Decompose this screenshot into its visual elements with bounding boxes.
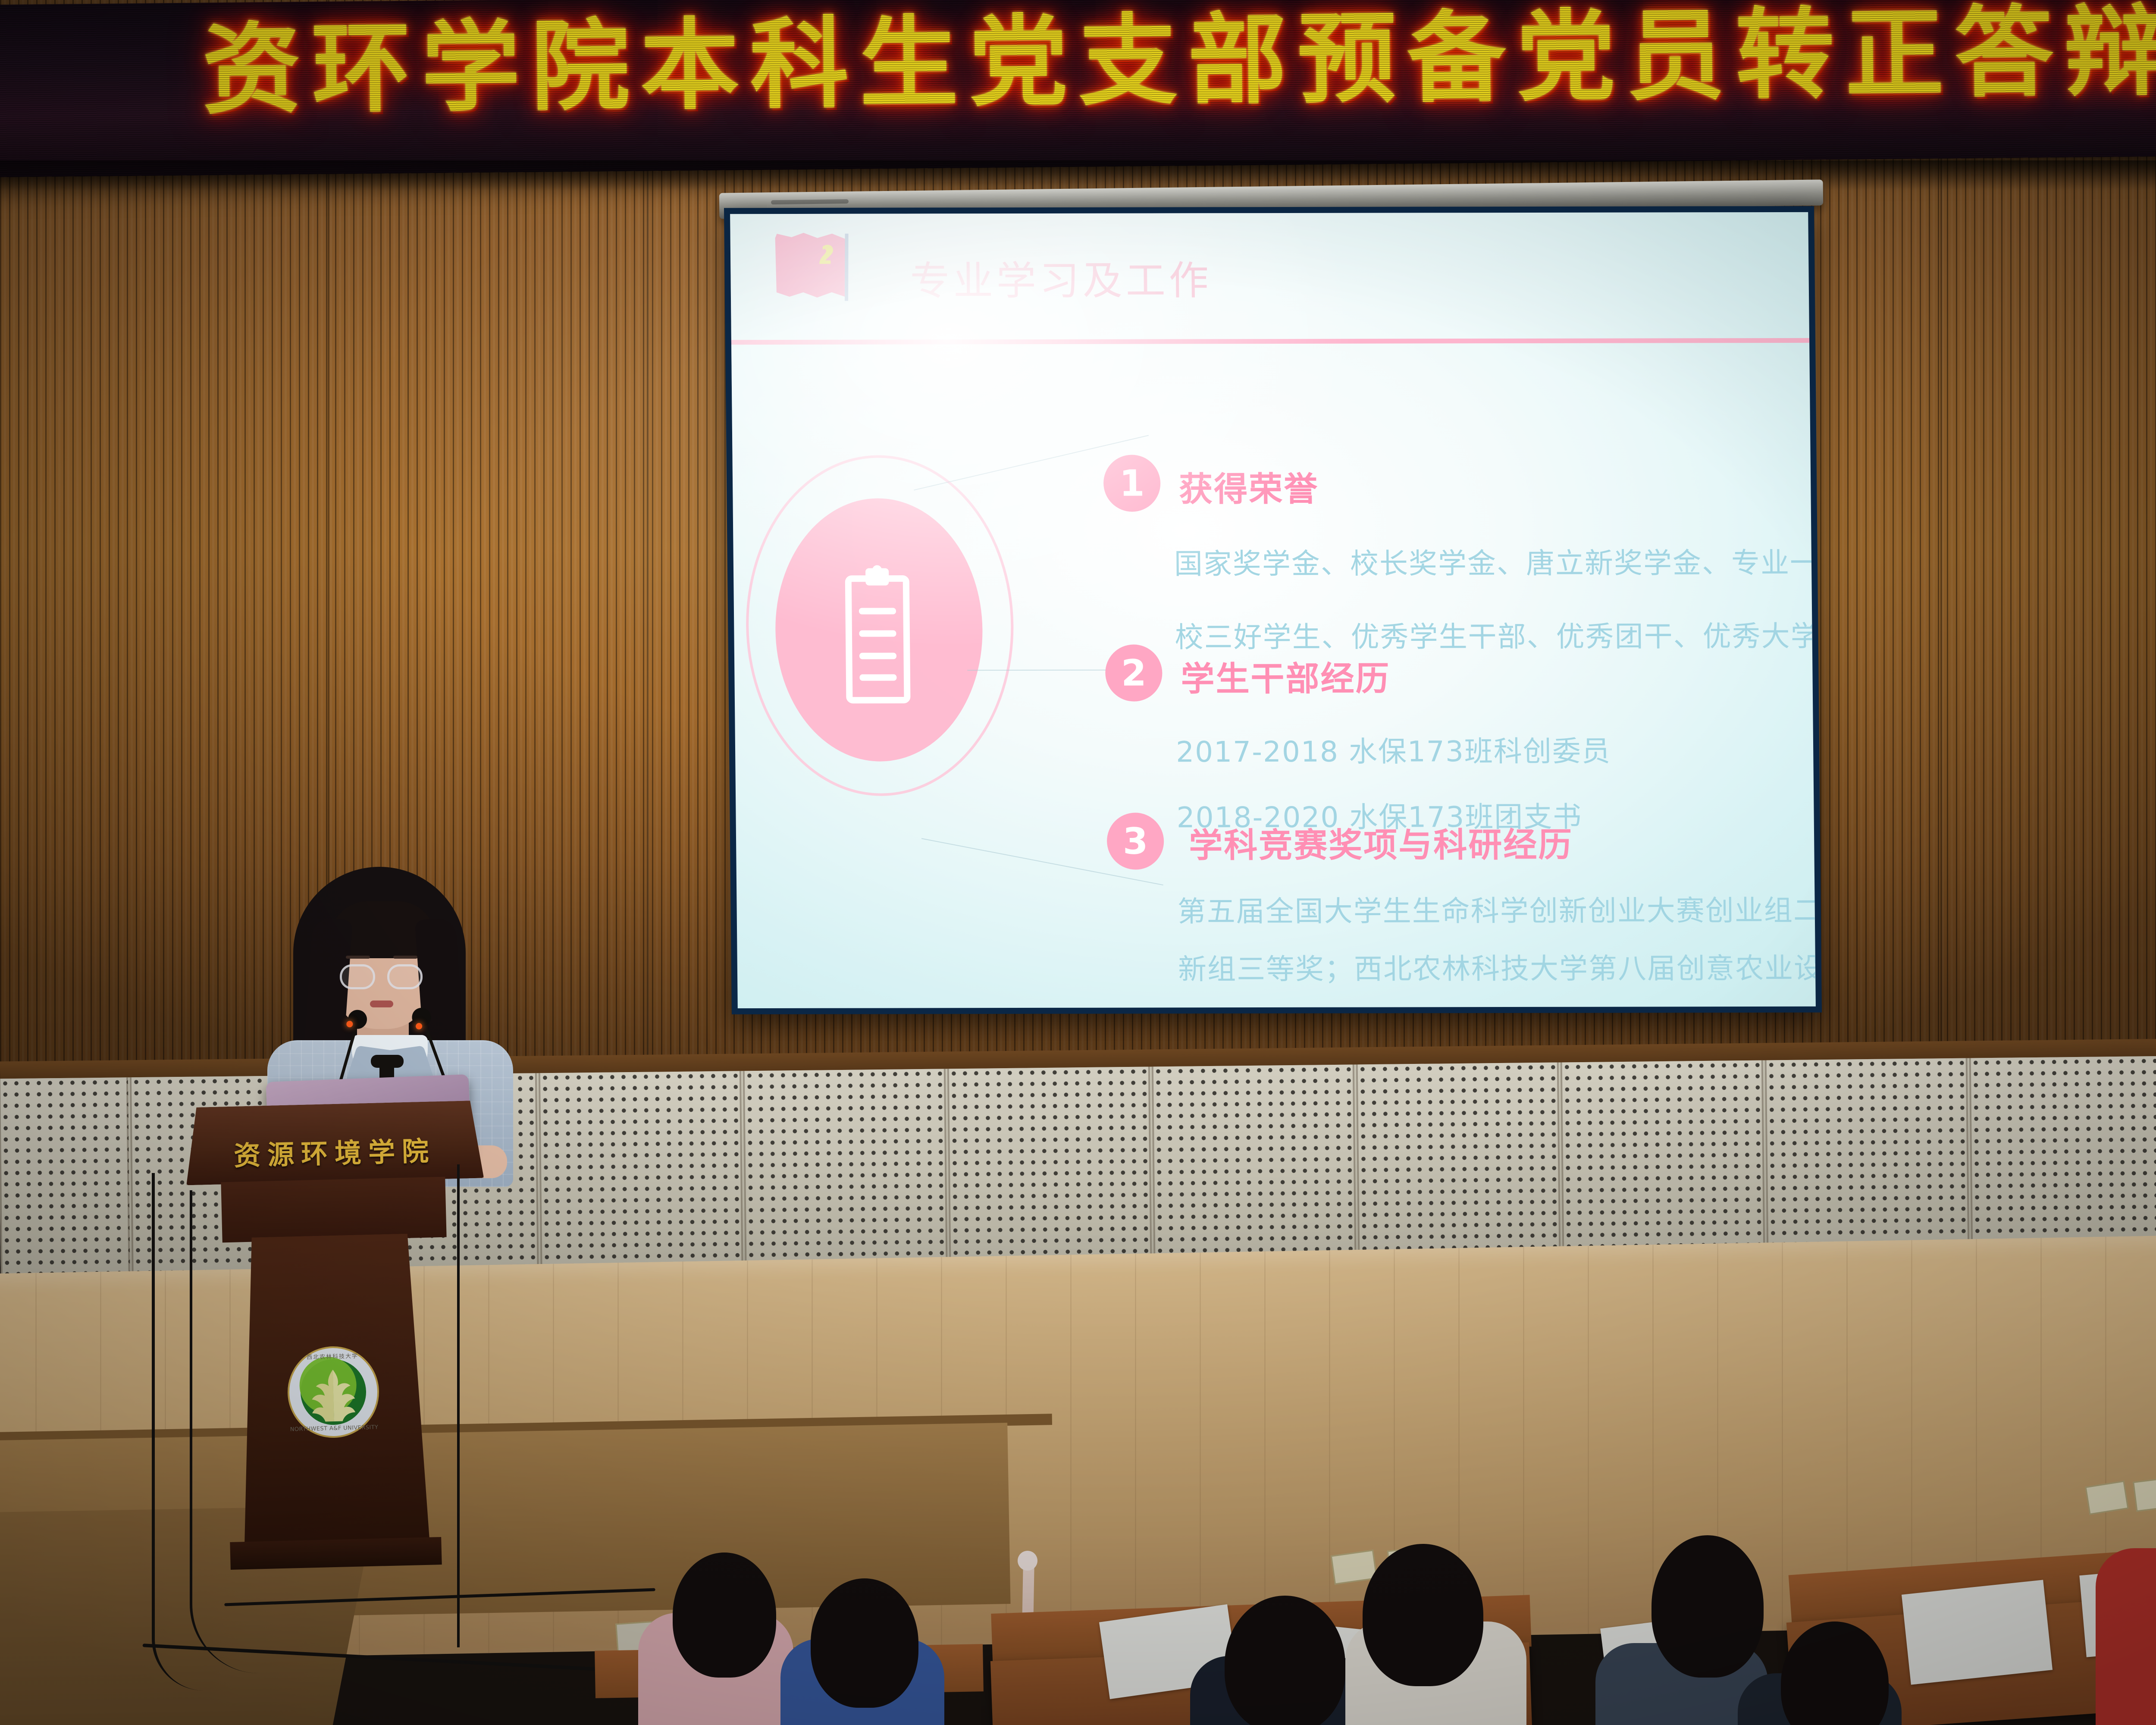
section-line: 国家奖学金、校长奖学金、唐立新奖学金、专业一等奖学金、: [1174, 539, 1815, 582]
section-line: 等奖；两项校级科创良好结题。: [1178, 1003, 1589, 1008]
svg-text:西北农林科技大学: 西北农林科技大学: [307, 1353, 358, 1361]
screen-housing-slot: [771, 199, 849, 204]
presenter-mouth: [370, 1000, 393, 1007]
glasses-icon: [340, 964, 375, 989]
section-number: 3: [1106, 812, 1164, 869]
slide-title: 专业学习及工作: [910, 248, 1212, 306]
party-flag-icon: [772, 232, 881, 325]
section-heading: 获得荣誉: [1179, 462, 1319, 511]
section-line: 第五届全国大学生生命科学创新创业大赛创业组二等奖、创: [1177, 887, 1816, 930]
projection-screen: 专业学习及工作 1 获得荣誉 国家奖学金、校长奖学金: [724, 206, 1822, 1014]
university-emblem: NORTHWEST A&F UNIVERSITY 西北农林科技大学: [285, 1344, 381, 1440]
audience-person: [2096, 1548, 2156, 1725]
presenter-eyebrow: [346, 956, 370, 959]
section-line: 校三好学生、优秀学生干部、优秀团干、优秀大学生: [1175, 613, 1816, 656]
led-banner: 资环学院本科生党支部预备党员转正答辩大会: [0, 0, 2156, 177]
microphone-head-icon: [1018, 1551, 1037, 1571]
audience-person-head: [811, 1578, 918, 1708]
banner-shadow: [0, 160, 2156, 191]
section-number: 2: [1105, 644, 1163, 701]
audience-person-head: [1225, 1596, 1345, 1725]
name-placard: [2133, 1477, 2156, 1512]
podium-label: 资源环境学院: [196, 1128, 473, 1174]
cable: [457, 1164, 517, 1647]
slide-divider: [730, 338, 1814, 345]
audience-person-head: [1651, 1535, 1764, 1678]
glasses-icon: [387, 964, 423, 989]
section-line: 2017-2018 水保173班科创委员: [1176, 728, 1611, 771]
section-heading: 学科竞赛奖项与科研经历: [1189, 818, 1573, 867]
lecture-hall-photo: 资环学院本科生党支部预备党员转正答辩大会 专业学习及工作: [0, 0, 2156, 1725]
cable: [190, 1190, 259, 1673]
clipboard-icon: [845, 563, 911, 705]
section-line: 新组三等奖；西北农林科技大学第八届创意农业设计大赛一: [1178, 945, 1815, 988]
document-paper: [1902, 1580, 2053, 1684]
slide-surface: 专业学习及工作 1 获得荣誉 国家奖学金、校长奖学金: [730, 212, 1816, 1008]
section-number: 1: [1103, 455, 1161, 511]
audience-person-head: [1363, 1544, 1483, 1686]
podium-base: [230, 1537, 442, 1570]
section-heading: 学生干部经历: [1181, 652, 1391, 701]
banner-title: 资环学院本科生党支部预备党员转正答辩大会: [0, 0, 2156, 121]
presenter-eyebrow: [393, 956, 417, 959]
audience-person-head: [673, 1552, 776, 1678]
